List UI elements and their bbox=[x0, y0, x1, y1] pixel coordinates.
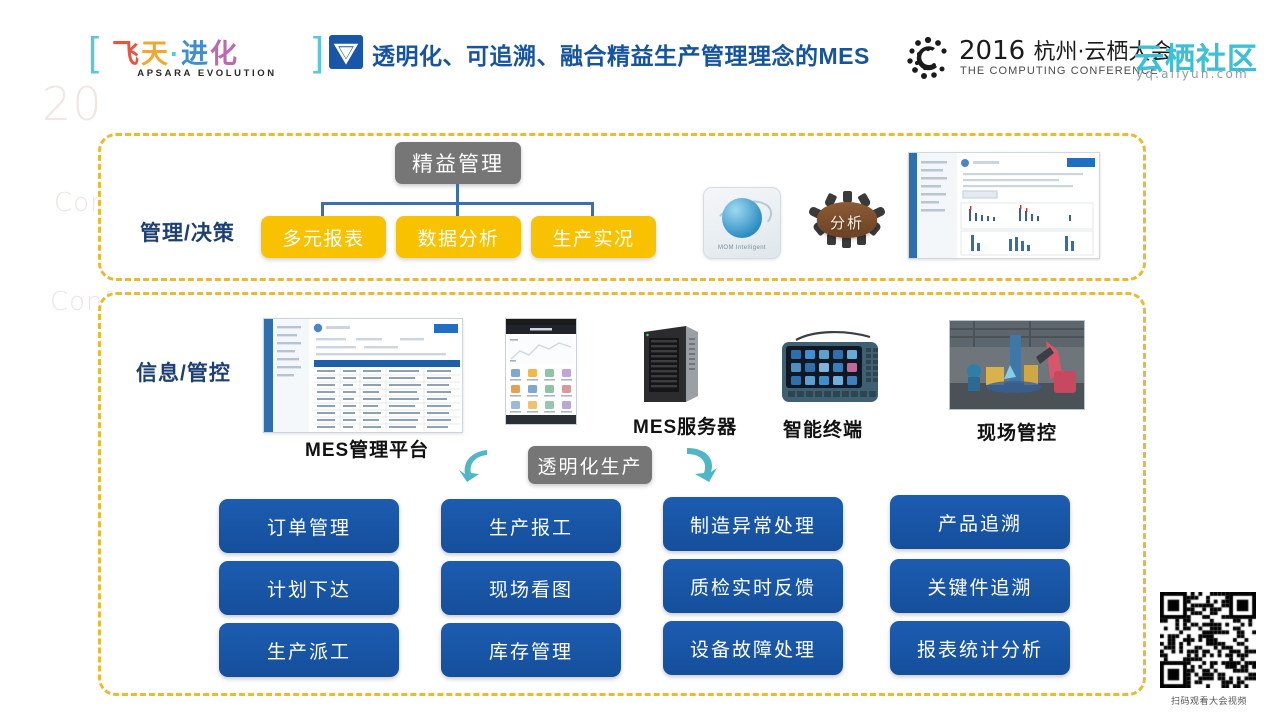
function-button-3-1[interactable]: 关键件追溯 bbox=[890, 559, 1070, 613]
analysis-label: 分析 bbox=[805, 212, 889, 233]
server-caption: MES服务器 bbox=[633, 412, 737, 439]
shield-triangle-icon bbox=[329, 35, 363, 69]
conference-subtitle: THE COMPUTING CONFERENCE bbox=[960, 65, 1159, 77]
page-header: 20 Computing Conference [ ] 飞天·进化 APSARA… bbox=[0, 0, 1280, 112]
management-box-2[interactable]: 数据分析 bbox=[396, 216, 521, 258]
function-button-3-0[interactable]: 产品追溯 bbox=[890, 495, 1070, 549]
apsara-logo-en: APSARA EVOLUTION bbox=[114, 68, 300, 79]
function-button-0-1[interactable]: 计划下达 bbox=[219, 561, 399, 615]
bracket-right: ] bbox=[313, 30, 324, 75]
apsara-logo-cn: 飞天·进化 bbox=[112, 32, 300, 71]
management-box-3[interactable]: 生产实况 bbox=[531, 216, 656, 258]
qr-code-icon[interactable] bbox=[1160, 592, 1256, 688]
conference-logo: 2016 杭州·云栖大会 THE COMPUTING CONFERENCE bbox=[905, 32, 1155, 84]
globe-caption: MOM Intelligent bbox=[704, 245, 780, 251]
field-control-caption: 现场管控 bbox=[977, 418, 1057, 445]
function-button-1-1[interactable]: 现场看图 bbox=[441, 561, 621, 615]
apsara-evolution-logo: [ ] 飞天·进化 APSARA EVOLUTION bbox=[88, 28, 324, 90]
management-panel-label: 管理/决策 bbox=[140, 217, 235, 247]
computing-conference-c-icon bbox=[905, 35, 951, 81]
smart-terminal bbox=[774, 328, 886, 406]
arrow-curve-right-icon bbox=[675, 442, 719, 486]
globe-thumbnail: MOM Intelligent bbox=[703, 187, 781, 259]
yunqi-community-logo: 云栖社区 yq.aliyun.com bbox=[1134, 34, 1280, 86]
mobile-app-screenshot bbox=[505, 318, 577, 425]
dashboard-screenshot bbox=[908, 152, 1100, 259]
function-button-3-2[interactable]: 报表统计分析 bbox=[890, 621, 1070, 675]
page-title: 透明化、可追溯、融合精益生产管理理念的MES bbox=[372, 37, 870, 71]
function-button-1-0[interactable]: 生产报工 bbox=[441, 499, 621, 553]
information-panel-label: 信息/管控 bbox=[136, 357, 231, 387]
function-button-2-2[interactable]: 设备故障处理 bbox=[663, 621, 843, 675]
mes-platform-screenshot bbox=[263, 318, 463, 433]
mes-platform-caption: MES管理平台 bbox=[305, 435, 429, 462]
lean-management-box: 精益管理 bbox=[395, 142, 521, 184]
function-button-2-0[interactable]: 制造异常处理 bbox=[663, 497, 843, 551]
terminal-caption: 智能终端 bbox=[783, 415, 863, 442]
management-box-1[interactable]: 多元报表 bbox=[261, 216, 386, 258]
transparent-production-box: 透明化生产 bbox=[528, 446, 652, 484]
server-tower bbox=[636, 322, 706, 406]
function-button-0-2[interactable]: 生产派工 bbox=[219, 623, 399, 677]
arrow-curve-left-icon bbox=[455, 444, 497, 486]
qr-caption: 扫码观看大会视频 bbox=[1150, 694, 1268, 707]
factory-robot-photo bbox=[949, 320, 1085, 410]
bracket-left: [ bbox=[88, 30, 99, 75]
meeting-table-thumbnail: 分析 bbox=[805, 190, 889, 254]
function-button-1-2[interactable]: 库存管理 bbox=[441, 623, 621, 677]
yunqi-url: yq.aliyun.com bbox=[1136, 67, 1249, 81]
function-button-0-0[interactable]: 订单管理 bbox=[219, 499, 399, 553]
connector-vertical-top bbox=[456, 184, 459, 204]
function-button-2-1[interactable]: 质检实时反馈 bbox=[663, 559, 843, 613]
globe-icon bbox=[722, 198, 762, 238]
